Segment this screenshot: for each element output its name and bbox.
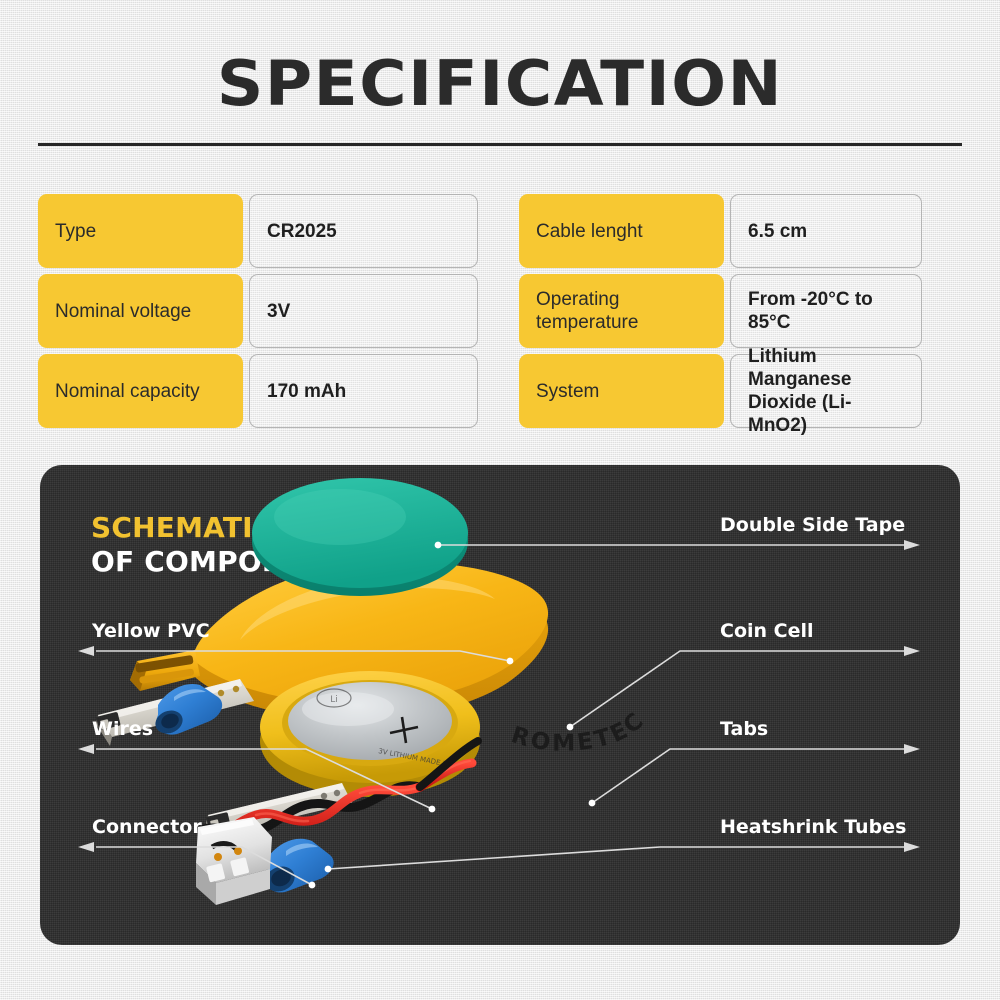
schematic-layout-panel: SCHEMATIC LAYOUT OF COMPONENTS: [40, 465, 960, 945]
table-column-gap: [478, 194, 479, 428]
spec-row: Nominal capacity 170 mAh: [38, 354, 478, 428]
callout-label-heatshrink-tubes: Heatshrink Tubes: [720, 816, 906, 839]
spec-key-operating-temperature: Operating temperature: [519, 274, 724, 348]
spec-row: Operating temperature From -20°C to 85°C: [519, 274, 922, 348]
spec-key-nominal-capacity: Nominal capacity: [38, 354, 243, 428]
spec-row: Type CR2025: [38, 194, 478, 268]
spec-row: System Lithium Manganese Dioxide (Li-MnO…: [519, 354, 922, 428]
spec-column-right: Cable lenght 6.5 cm Operating temperatur…: [519, 194, 922, 428]
spec-key-cable-length: Cable lenght: [519, 194, 724, 268]
callout-leader-lines: [40, 465, 960, 945]
spec-value-nominal-capacity: 170 mAh: [249, 354, 478, 428]
spec-row: Cable lenght 6.5 cm: [519, 194, 922, 268]
spec-value-cable-length: 6.5 cm: [730, 194, 922, 268]
spec-key-type: Type: [38, 194, 243, 268]
title-divider: [38, 143, 962, 146]
callout-label-connector: Connector: [92, 816, 202, 839]
callout-label-wires: Wires: [92, 718, 153, 741]
spec-value-system: Lithium Manganese Dioxide (Li-MnO2): [730, 354, 922, 428]
callout-label-yellow-pvc: Yellow PVC: [92, 620, 210, 643]
spec-value-type: CR2025: [249, 194, 478, 268]
spec-key-nominal-voltage: Nominal voltage: [38, 274, 243, 348]
spec-value-operating-temperature: From -20°C to 85°C: [730, 274, 922, 348]
spec-key-system: System: [519, 354, 724, 428]
callout-label-double-side-tape: Double Side Tape: [720, 514, 905, 537]
spec-column-left: Type CR2025 Nominal voltage 3V Nominal c…: [38, 194, 478, 428]
page-title: SPECIFICATION: [0, 48, 1000, 120]
spec-row: Nominal voltage 3V: [38, 274, 478, 348]
callout-label-tabs: Tabs: [720, 718, 768, 741]
callout-label-coin-cell: Coin Cell: [720, 620, 814, 643]
specification-table: Type CR2025 Nominal voltage 3V Nominal c…: [38, 194, 962, 428]
spec-value-nominal-voltage: 3V: [249, 274, 478, 348]
